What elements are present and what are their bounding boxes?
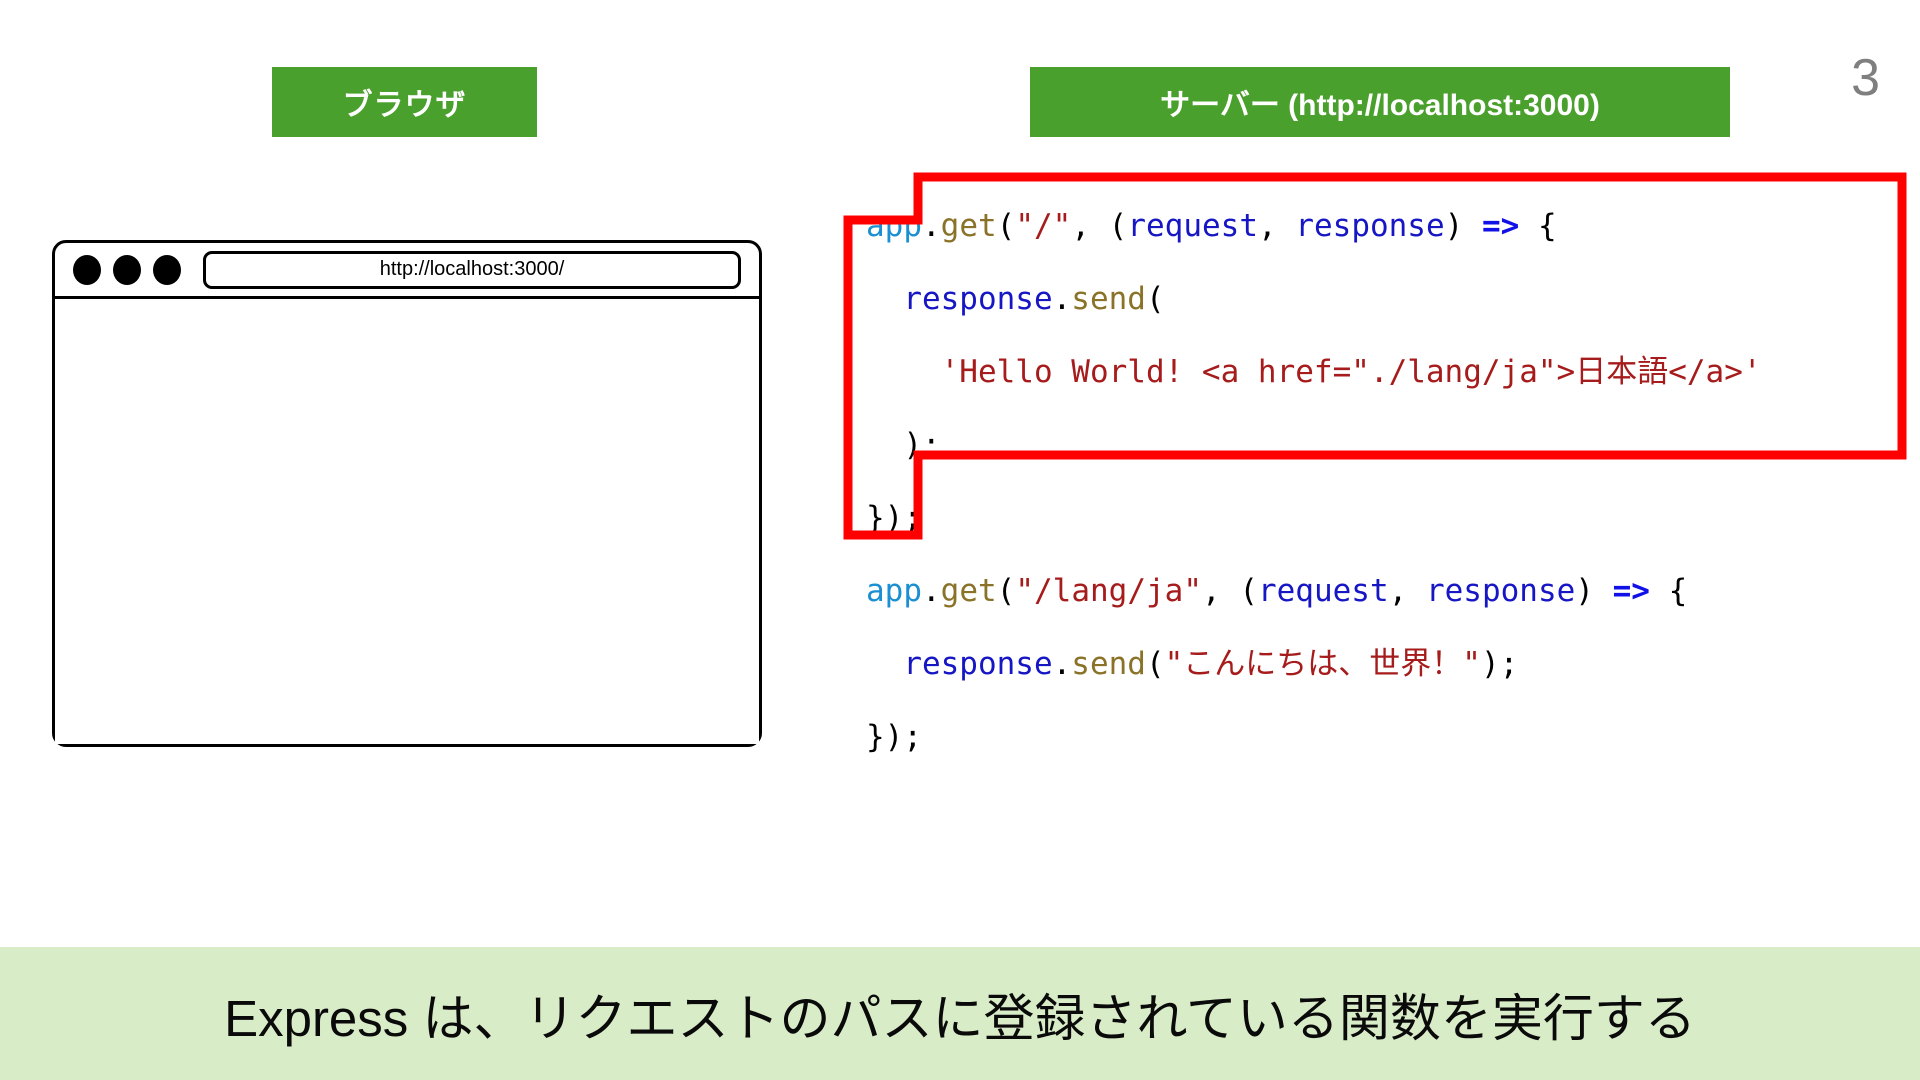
code-token-punc: (: [997, 208, 1016, 244]
code-token-punc: ,: [1389, 573, 1426, 609]
code-token-param: response: [903, 646, 1052, 682]
code-token-punc: ,: [1071, 208, 1108, 244]
code-token-param: response: [1426, 573, 1575, 609]
slide-canvas: 3 ブラウザ http://localhost:3000/ サーバー (http…: [0, 0, 1920, 1080]
browser-viewport: [55, 299, 759, 744]
code-token-punc: (: [1239, 573, 1258, 609]
code-token-string: 'Hello World! <a href="./lang/ja">日本語</a…: [941, 354, 1762, 390]
code-line: response.send(: [866, 263, 1762, 336]
code-token-object: app: [866, 573, 922, 609]
code-token-punc: .: [922, 208, 941, 244]
code-token-param: request: [1127, 208, 1258, 244]
code-token-string: "/lang/ja": [1015, 573, 1202, 609]
code-line: );: [866, 409, 1762, 482]
code-line: 'Hello World! <a href="./lang/ja">日本語</a…: [866, 336, 1762, 409]
code-token-object: app: [866, 208, 922, 244]
code-token-punc: );: [1481, 646, 1518, 682]
caption-text: Express は、リクエストのパスに登録されている関数を実行する: [224, 977, 1696, 1051]
window-minimize-dot-icon[interactable]: [113, 255, 141, 285]
caption-band: Express は、リクエストのパスに登録されている関数を実行する: [0, 947, 1920, 1080]
code-token-function: get: [941, 573, 997, 609]
code-token-punc: .: [922, 573, 941, 609]
code-line: app.get("/lang/ja", (request, response) …: [866, 555, 1762, 628]
code-token-punc: (: [1146, 646, 1165, 682]
code-token-punc: });: [866, 719, 922, 755]
code-line: response.send("こんにちは、世界！");: [866, 628, 1762, 701]
address-bar[interactable]: http://localhost:3000/: [203, 251, 741, 289]
window-maximize-dot-icon[interactable]: [153, 255, 181, 285]
server-panel-header: サーバー (http://localhost:3000): [1030, 67, 1730, 137]
code-token-punc: {: [1519, 208, 1556, 244]
code-token-string: "こんにちは、世界！": [1165, 646, 1481, 682]
browser-panel-header: ブラウザ: [272, 67, 537, 137]
code-token-punc: (: [1109, 208, 1128, 244]
code-token-punc: .: [1053, 646, 1072, 682]
code-token-punc: ): [1445, 208, 1482, 244]
code-token-param: response: [1295, 208, 1444, 244]
browser-window-mock: http://localhost:3000/: [52, 240, 762, 747]
code-token-punc: ): [1575, 573, 1612, 609]
code-token-function: send: [1071, 281, 1146, 317]
code-token-punc: ,: [1258, 208, 1295, 244]
code-token-punc: });: [866, 500, 922, 536]
code-line: });: [866, 482, 1762, 555]
code-token-punc: );: [903, 427, 940, 463]
browser-chrome-bar: http://localhost:3000/: [55, 243, 759, 299]
code-token-arrow: =>: [1613, 573, 1650, 609]
address-bar-url: http://localhost:3000/: [380, 258, 565, 281]
code-token-function: get: [941, 208, 997, 244]
code-token-arrow: =>: [1482, 208, 1519, 244]
page-number: 3: [1851, 52, 1880, 104]
code-token-punc: ,: [1202, 573, 1239, 609]
code-token-punc: (: [1146, 281, 1165, 317]
code-token-punc: {: [1650, 573, 1687, 609]
code-token-function: send: [1071, 646, 1146, 682]
code-line: app.get("/", (request, response) => {: [866, 190, 1762, 263]
code-token-param: request: [1258, 573, 1389, 609]
window-close-dot-icon[interactable]: [73, 255, 101, 285]
code-token-punc: .: [1053, 281, 1072, 317]
code-token-punc: (: [997, 573, 1016, 609]
code-token-param: response: [903, 281, 1052, 317]
code-line: });: [866, 701, 1762, 774]
server-code-block: app.get("/", (request, response) => {res…: [866, 190, 1762, 774]
code-token-string: "/": [1015, 208, 1071, 244]
